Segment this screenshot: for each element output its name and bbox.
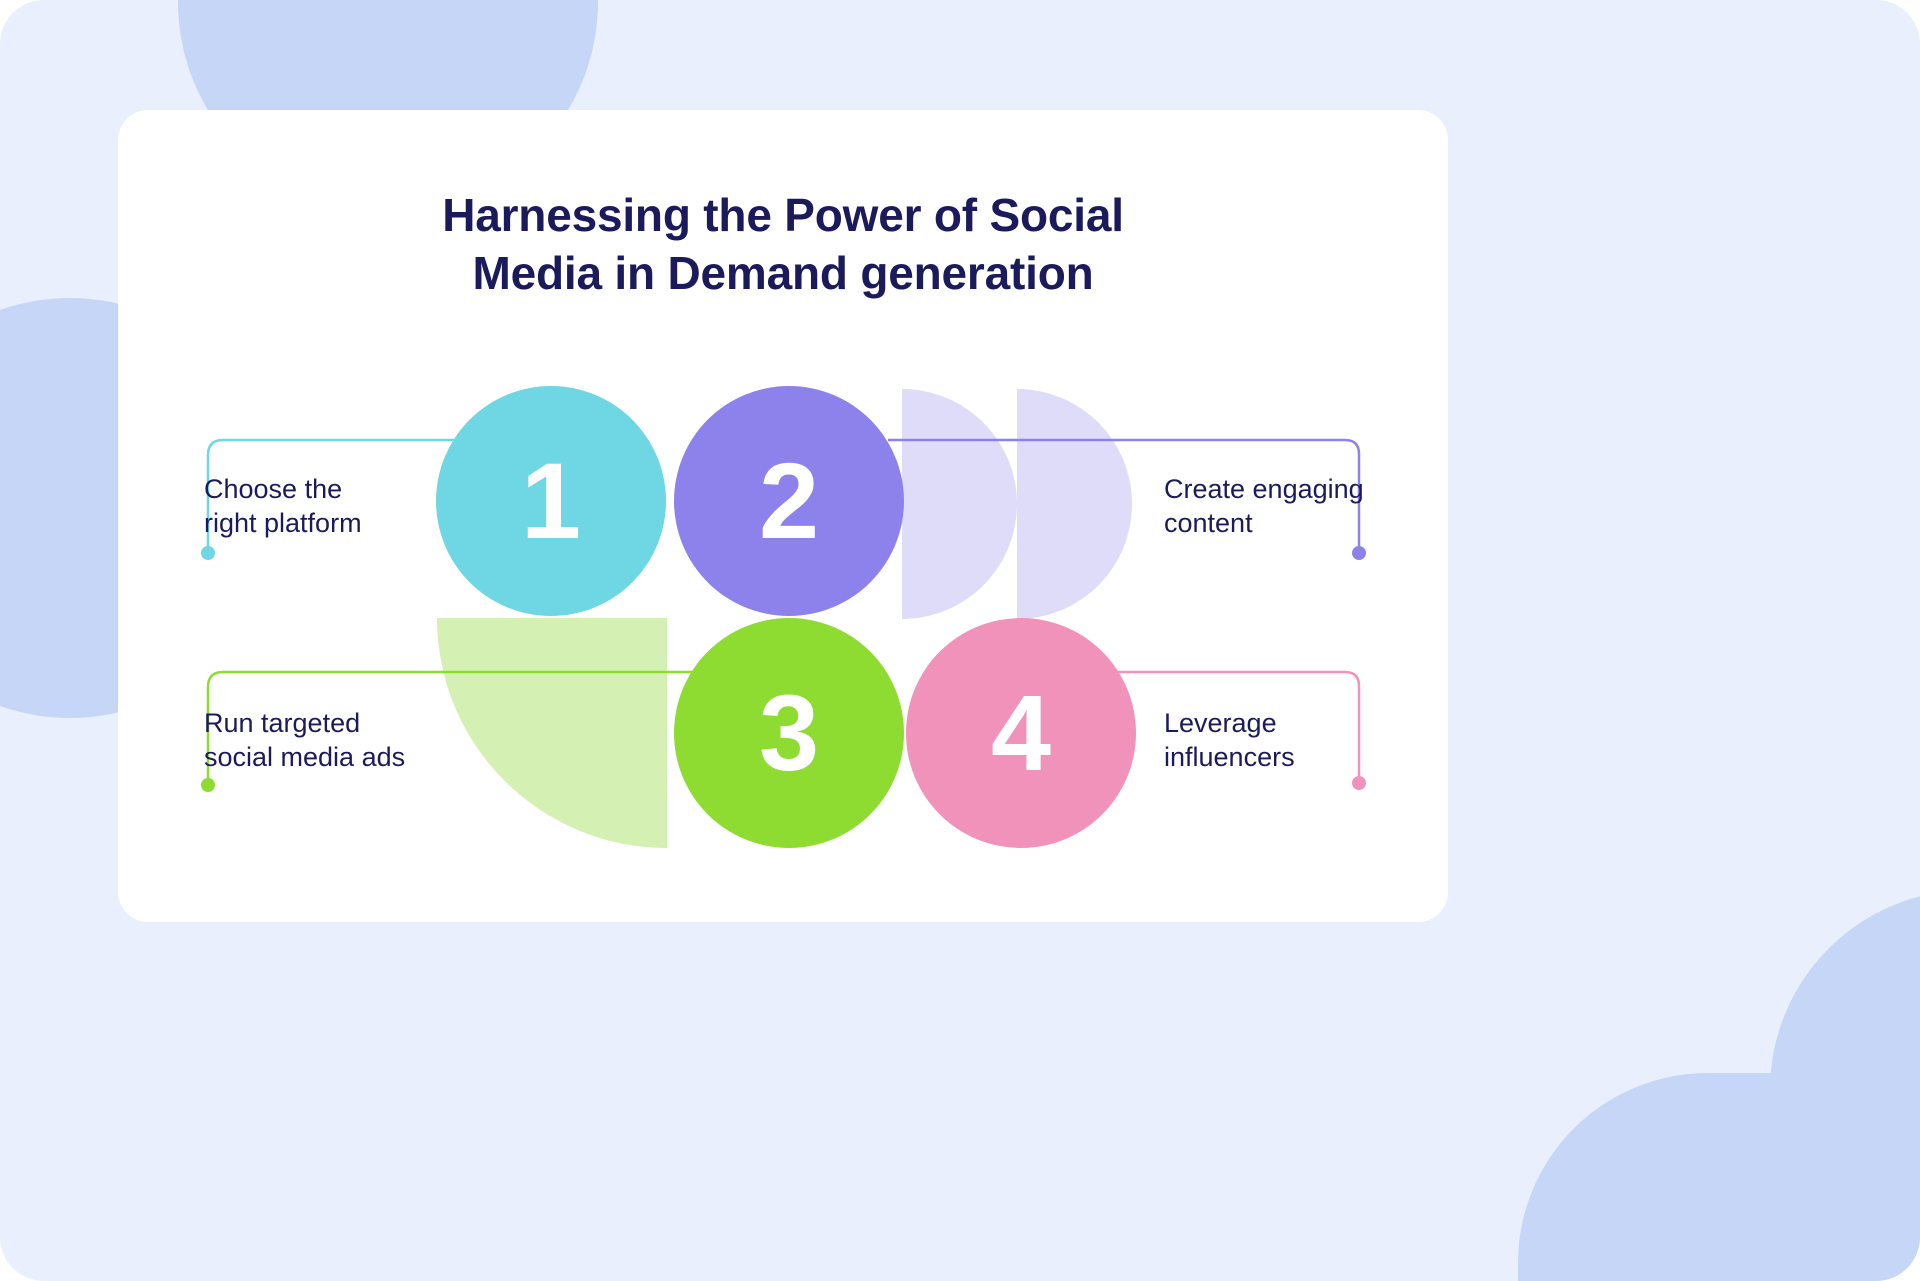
step-number-1: 1 xyxy=(521,447,581,555)
connector-dot-1 xyxy=(201,546,215,560)
step-circle-3[interactable]: 3 xyxy=(674,618,904,848)
step-label-4: Leverage influencers xyxy=(1164,706,1448,774)
decorative-halfdisc-purple-2 xyxy=(1017,389,1132,619)
step-number-4: 4 xyxy=(991,679,1051,787)
step-label-3: Run targeted social media ads xyxy=(204,706,504,774)
connector-dot-2 xyxy=(1352,546,1366,560)
content-card: Harnessing the Power of Social Media in … xyxy=(118,110,1448,922)
step-circle-4[interactable]: 4 xyxy=(906,618,1136,848)
step-label-1: Choose the right platform xyxy=(204,472,504,540)
step-circle-2[interactable]: 2 xyxy=(674,386,904,616)
steps-diagram: 1 2 3 4 Choose the right platform Create… xyxy=(118,110,1448,922)
step-number-2: 2 xyxy=(759,447,819,555)
decorative-halfdisc-purple-1 xyxy=(902,389,1017,619)
infographic-root: Harnessing the Power of Social Media in … xyxy=(0,0,1920,1281)
step-number-3: 3 xyxy=(759,679,819,787)
connector-dot-4 xyxy=(1352,776,1366,790)
connector-dot-3 xyxy=(201,778,215,792)
step-label-2: Create engaging content xyxy=(1164,472,1448,540)
